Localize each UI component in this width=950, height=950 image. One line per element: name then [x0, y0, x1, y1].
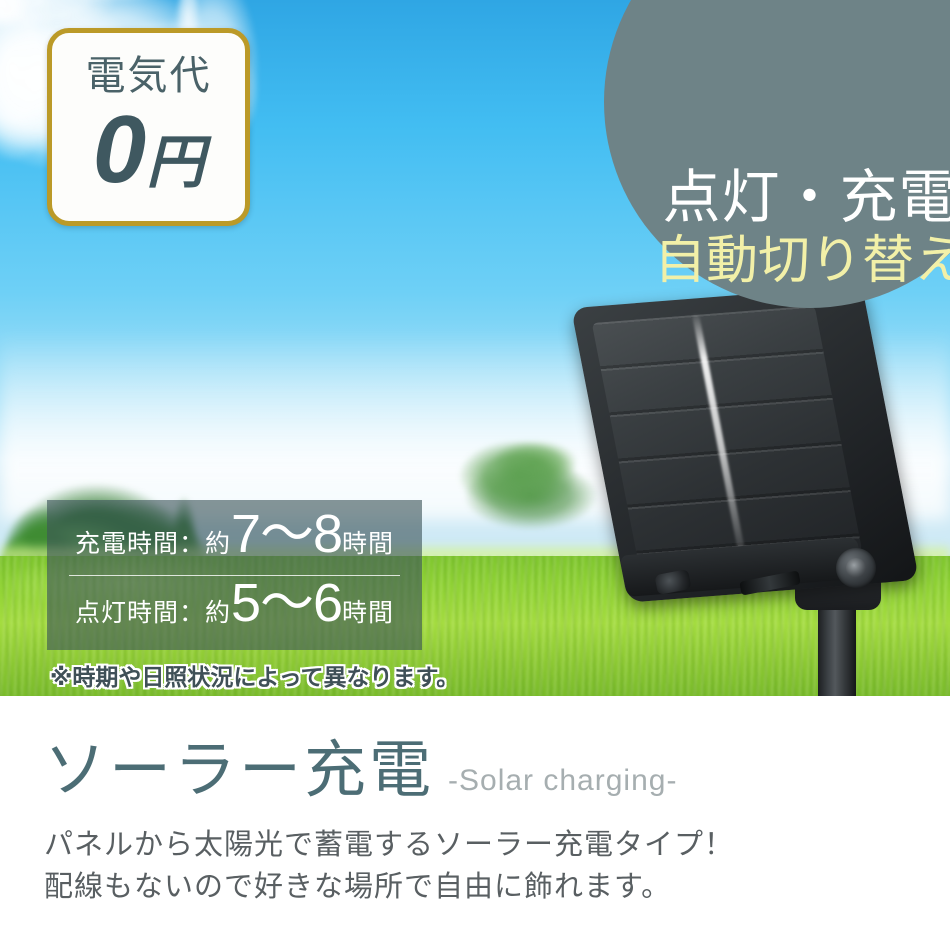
- spec-panel: 充電時間：約 7〜8 時間 点灯時間：約 5〜6 時間: [47, 500, 422, 650]
- charge-time-suffix: 時間: [342, 524, 394, 560]
- zero-yen-badge: 電気代 0 円: [47, 28, 250, 226]
- headline-english: -Solar charging-: [448, 766, 677, 796]
- section-headline: ソーラー充電 -Solar charging-: [44, 740, 677, 802]
- spec-disclaimer-note: ※時期や日照状況によって異なります。: [50, 658, 459, 692]
- charge-time-label: 充電時間：約: [75, 524, 231, 560]
- circle-badge-line1: 点灯・充電: [662, 167, 950, 230]
- light-time-value: 5〜6: [231, 576, 342, 630]
- zero-yen-value: 0 円: [93, 102, 204, 198]
- body-copy-line1: パネルから太陽光で蓄電するソーラー充電タイプ！: [44, 824, 734, 866]
- auto-switch-circle-badge: 点灯・充電 自動切り替え: [604, 0, 950, 308]
- light-time-suffix: 時間: [342, 593, 394, 629]
- body-copy: パネルから太陽光で蓄電するソーラー充電タイプ！ 配線もないので好きな場所で自由に…: [44, 824, 734, 908]
- tilt-knob-center: [846, 558, 866, 578]
- spec-row-charge-time: 充電時間：約 7〜8 時間: [47, 507, 422, 575]
- bottom-copy-section: ソーラー充電 -Solar charging- パネルから太陽光で蓄電するソーラ…: [0, 696, 950, 950]
- zero-yen-label: 電気代: [86, 56, 212, 96]
- circle-badge-line2: 自動切り替え: [654, 232, 950, 290]
- body-copy-line2: 配線もないので好きな場所で自由に飾れます。: [44, 866, 734, 908]
- solar-panel-face: [592, 306, 862, 569]
- zero-yen-unit: 円: [146, 134, 204, 192]
- charge-time-value: 7〜8: [231, 507, 342, 561]
- spec-row-light-time: 点灯時間：約 5〜6 時間: [47, 576, 422, 644]
- light-time-label: 点灯時間：約: [75, 593, 231, 629]
- product-marketing-image: 電気代 0 円 点灯・充電 自動切り替え 充電時間：約 7〜8 時間 点灯時間：…: [0, 0, 950, 950]
- zero-yen-number: 0: [93, 102, 144, 198]
- headline-japanese: ソーラー充電: [44, 740, 434, 802]
